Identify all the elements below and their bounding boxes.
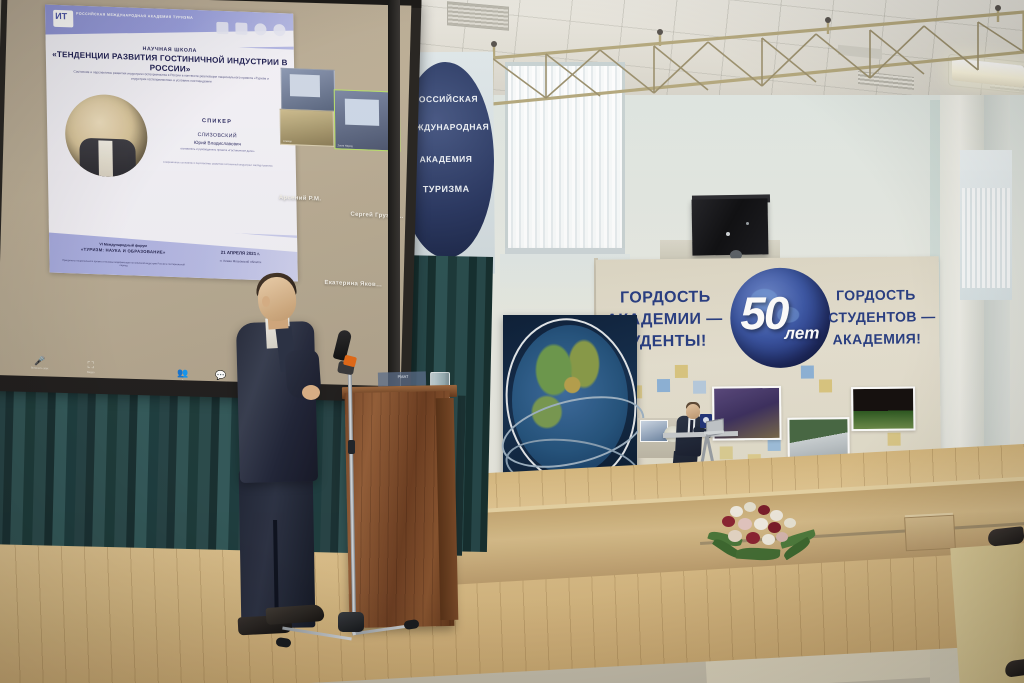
mic-stand-base — [338, 612, 364, 632]
ceiling-truss — [480, 0, 1024, 120]
partner-logos — [195, 18, 285, 39]
flower — [722, 516, 735, 527]
partner-logo-icon — [216, 22, 228, 34]
floral-arrangement — [708, 500, 816, 562]
academy-logo-icon — [53, 10, 73, 28]
slide-footer-band: VI Международный форум «ТУРИЗМ: НАУКА И … — [49, 226, 298, 281]
speaker-ear — [262, 296, 270, 307]
projection-screen-frame: РОССИЙСКАЯ МЕЖДУНАРОДНАЯ АКАДЕМИЯ ТУРИЗМ… — [0, 0, 422, 400]
banner-right-line: СТУДЕНТОВ — — [828, 308, 935, 325]
flower — [784, 518, 796, 528]
banner-right-line: ГОРДОСТЬ — [836, 286, 916, 303]
flower — [762, 534, 775, 545]
mic-label: Включить звук — [31, 367, 48, 371]
video-thumbnail — [281, 68, 336, 112]
mic-glyph: 🎤 — [31, 357, 48, 367]
speaker-topic: Современное состояние и перспективы разв… — [160, 161, 276, 169]
event-date: 21 АПРЕЛЯ 2021 г. — [197, 249, 283, 257]
video-thumbnail: Спикер — [280, 109, 335, 147]
video-icon[interactable]: ⛶ Видео — [87, 361, 95, 374]
anniversary-number: 50 — [740, 290, 788, 336]
participant-name: Екатерина Яков… — [324, 280, 382, 288]
speaker-label: СПИКЕР — [157, 117, 277, 127]
speaker-hand — [302, 385, 320, 400]
speaker-portrait — [65, 93, 148, 178]
speaker-driver-icon — [746, 222, 749, 225]
wall-loudspeaker — [692, 198, 769, 255]
partner-logo-icon — [235, 22, 247, 34]
banner-square — [693, 381, 706, 394]
stage-step-block — [904, 515, 956, 552]
banner-left-line: ГОРДОСТЬ — [620, 289, 711, 308]
participants-glyph: 👥 — [177, 369, 188, 378]
mic-icon[interactable]: 🎤 Включить звук — [31, 357, 48, 371]
thumbnail-label: Zoom Народ — [337, 144, 352, 148]
flower — [776, 532, 788, 542]
speaker-role: основатель и руководитель проекта «Гости… — [157, 146, 277, 154]
banner-square — [675, 365, 688, 378]
banner-square — [888, 433, 901, 446]
flower — [758, 505, 770, 515]
banner-square — [801, 366, 814, 379]
presentation-slide: РОССИЙСКАЯ МЕЖДУНАРОДНАЯ АКАДЕМИЯ ТУРИЗМ… — [45, 4, 298, 281]
video-glyph: ⛶ — [87, 361, 95, 370]
anniversary-word: лет — [784, 323, 819, 343]
seated-person-head — [686, 404, 700, 419]
flower — [744, 502, 756, 512]
flower — [770, 510, 783, 521]
flower — [754, 518, 768, 530]
flower — [746, 532, 760, 544]
banner-right-line: АКАДЕМИЯ! — [832, 330, 921, 347]
flower-leaf — [736, 546, 781, 561]
partner-logo-icon — [273, 24, 285, 36]
partner-logo-icon — [254, 23, 266, 35]
banner-square — [720, 446, 733, 459]
screen-support-post — [388, 0, 400, 400]
banner-square — [657, 379, 670, 392]
microphone-stand-joint — [348, 440, 355, 454]
truss-svg — [480, 0, 1024, 120]
banner-square — [819, 379, 832, 392]
conference-hall-photo: РОССИЙСКАЯ МЕЖДУНАРОДНАЯ АКАДЕМИЯ ТУРИЗМ… — [0, 0, 1024, 683]
podium-nameplate: РМАТ — [383, 373, 423, 379]
thumbnail-label: Спикер — [283, 140, 292, 143]
event-place: гг. Химки Московской области — [197, 258, 283, 265]
projection-screen: РОССИЙСКАЯ МЕЖДУНАРОДНАЯ АКАДЕМИЯ ТУРИЗМ… — [0, 0, 411, 390]
flower — [730, 506, 743, 517]
flower — [738, 518, 752, 530]
forum-note: Приоритеты национального проекта и вызов… — [59, 258, 187, 269]
speaker-driver-icon — [726, 232, 730, 236]
far-window-blinds — [962, 188, 1010, 288]
banner-photo — [851, 386, 915, 431]
flower — [728, 530, 742, 542]
video-label: Видео — [87, 371, 95, 374]
chat-glyph: 💬 — [215, 371, 226, 380]
